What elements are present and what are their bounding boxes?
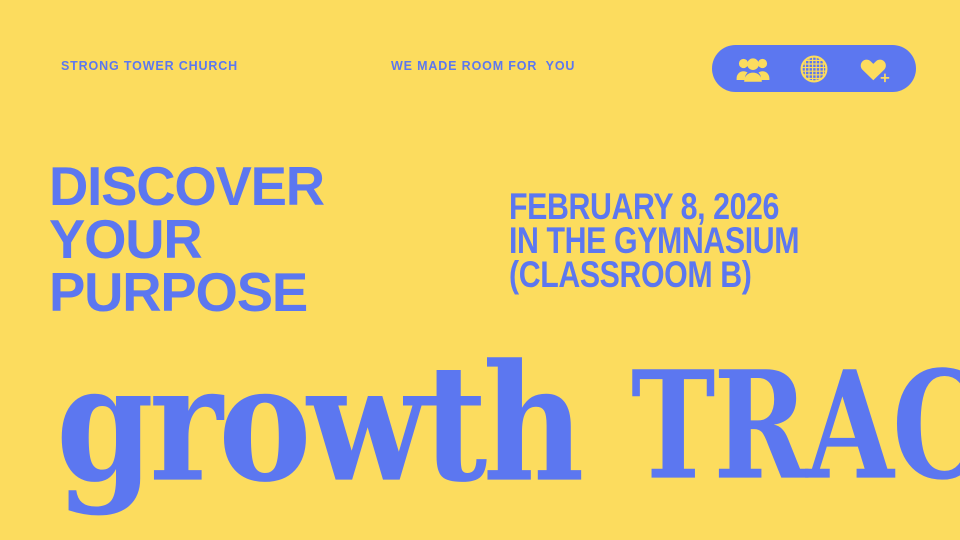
growth-track-wordmark: growthTRACK xyxy=(56,352,906,502)
globe-grid-icon[interactable] xyxy=(791,52,837,86)
tagline: WE MADE ROOM FOR YOU xyxy=(391,59,575,73)
icon-pill[interactable] xyxy=(712,45,916,92)
heart-plus-icon[interactable] xyxy=(852,52,898,86)
wordmark-track: TRACK xyxy=(631,351,960,500)
event-details: FEBRUARY 8, 2026 IN THE GYMNASIUM (CLASS… xyxy=(509,190,799,292)
page-title: DISCOVER YOUR PURPOSE xyxy=(49,160,324,319)
brand-name: STRONG TOWER CHURCH xyxy=(61,59,238,73)
wordmark-growth: growth xyxy=(56,343,580,504)
flyer-canvas: STRONG TOWER CHURCH WE MADE ROOM FOR YOU xyxy=(0,0,960,540)
people-group-icon[interactable] xyxy=(730,52,776,86)
